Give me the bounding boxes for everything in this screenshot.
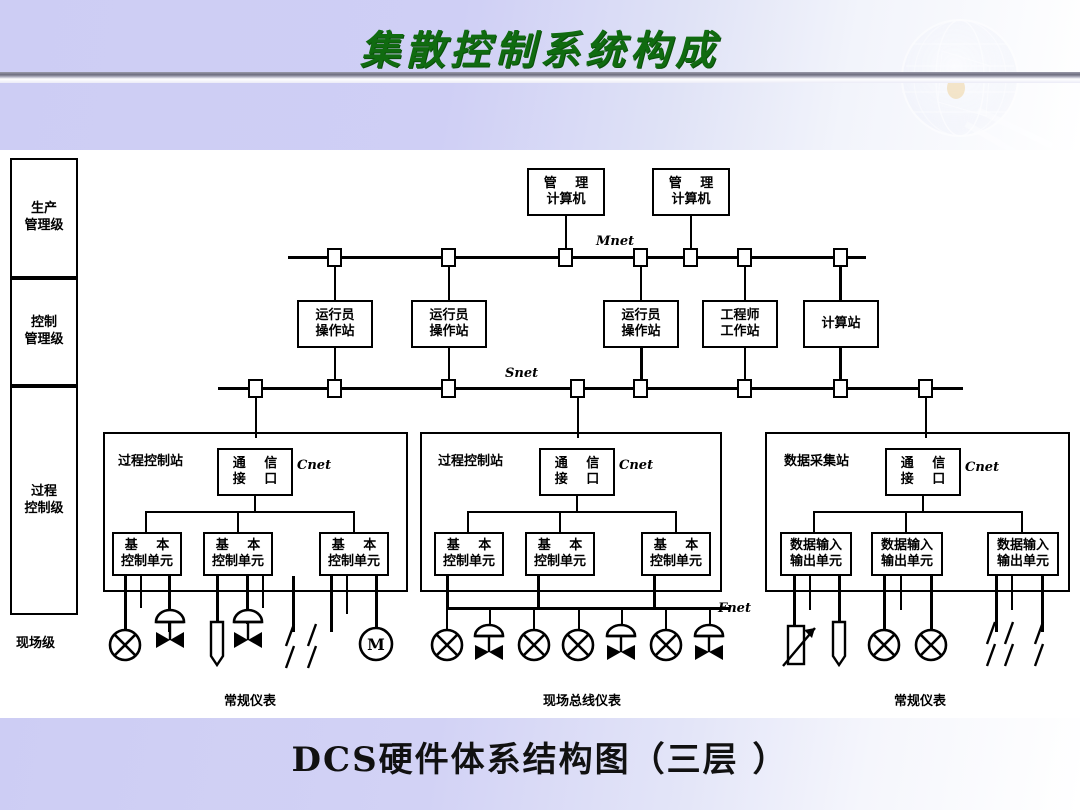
box-line1: 运行员 [429, 308, 468, 324]
box-line1: 数据输入 [997, 538, 1049, 554]
variable-sensor-icon [782, 620, 822, 672]
box-line2: 接 口 [894, 472, 953, 488]
cnet-branch-2a [467, 511, 469, 533]
thermowell-icon [830, 620, 848, 668]
fnet-drop-3 [533, 607, 535, 629]
box-line1: 计算站 [821, 316, 860, 332]
box-line1: 通 信 [894, 456, 953, 472]
level-box-control: 控制 管理级 [10, 278, 78, 386]
transmitter-icon [561, 628, 595, 662]
link-mnet-to-operator2 [448, 267, 450, 300]
control-valve-icon [469, 622, 509, 672]
field-drop-1-10 [375, 576, 378, 632]
communication-interface-1: 通 信 接 口 [217, 448, 293, 496]
basic-control-unit-1a: 基 本 控制单元 [112, 532, 182, 576]
station-name-2: 过程控制站 [438, 450, 503, 469]
box-line2: 控制单元 [121, 554, 173, 570]
snet-node-6 [737, 379, 752, 398]
engineer-workstation: 工程师 工作站 [702, 300, 778, 348]
slide: 集散控制系统构成 DCS硬件体系结构图（三层 ） 生产 管理级 控制 管理级 过… [0, 0, 1080, 810]
station-name-1: 过程控制站 [118, 450, 183, 469]
mnet-node-3 [558, 248, 573, 267]
snet-node-1 [248, 379, 263, 398]
box-line2: 控制单元 [212, 554, 264, 570]
compute-station: 计算站 [803, 300, 879, 348]
basic-control-unit-2a: 基 本 控制单元 [434, 532, 504, 576]
box-line2: 计算机 [546, 192, 585, 208]
snet-node-7 [833, 379, 848, 398]
cnet-branch-1b [237, 511, 239, 533]
box-line1: 基 本 [440, 538, 499, 554]
box-line2: 计算机 [671, 192, 710, 208]
box-line2: 输出单元 [881, 554, 933, 570]
basic-control-unit-2c: 基 本 控制单元 [641, 532, 711, 576]
cnet-bus-1 [145, 511, 355, 513]
box-line2: 操作站 [429, 324, 468, 340]
basic-control-unit-1c: 基 本 控制单元 [319, 532, 389, 576]
box-line1: 基 本 [531, 538, 590, 554]
field-drop-3-2 [809, 576, 811, 610]
field-drop-1-9 [346, 576, 348, 614]
communication-interface-2: 通 信 接 口 [539, 448, 615, 496]
level-label-field: 现场级 [16, 632, 55, 651]
snet-node-2 [327, 379, 342, 398]
level-label-line2: 控制级 [24, 501, 63, 516]
station-name-3: 数据采集站 [784, 450, 849, 469]
box-line2: 操作站 [621, 324, 660, 340]
mnet-node-6 [737, 248, 752, 267]
transmitter-icon [867, 628, 901, 662]
cnet-branch-3a [813, 511, 815, 533]
box-line1: 运行员 [315, 308, 354, 324]
basic-control-unit-1b: 基 本 控制单元 [203, 532, 273, 576]
data-io-unit-3b: 数据输入 输出单元 [871, 532, 943, 576]
box-line2: 接 口 [548, 472, 607, 488]
box-line1: 管 理 [537, 176, 596, 192]
snet-node-4 [570, 379, 585, 398]
link-mnet-to-engineer [744, 267, 746, 300]
fnet-drop-1 [446, 607, 448, 629]
control-valve-icon [228, 604, 268, 660]
mnet-node-4 [633, 248, 648, 267]
level-label-line2: 管理级 [24, 218, 63, 233]
cnet-label-1: Cnet [297, 458, 331, 473]
mnet-node-2 [441, 248, 456, 267]
transmitter-icon [108, 628, 142, 662]
field-drop-2-3 [653, 576, 656, 608]
transmitter-icon [649, 628, 683, 662]
box-line2: 控制单元 [443, 554, 495, 570]
box-line1: 通 信 [548, 456, 607, 472]
cnet-branch-3c [1021, 511, 1023, 533]
management-computer-2: 管 理 计算机 [652, 168, 730, 216]
cnet-stem-1 [254, 496, 256, 512]
field-drop-3-5 [900, 576, 902, 610]
mnet-node-5 [683, 248, 698, 267]
control-valve-icon [689, 622, 729, 672]
level-box-process: 过程 控制级 [10, 386, 78, 615]
snet-node-5 [633, 379, 648, 398]
motor-icon: M [358, 626, 394, 662]
fnet-label: Fnet [718, 601, 751, 616]
link-mnet-to-operator1 [334, 267, 336, 300]
cnet-stem-3 [922, 496, 924, 512]
basic-control-unit-2b: 基 本 控制单元 [525, 532, 595, 576]
page-title: 集散控制系统构成 [0, 18, 1080, 76]
field-drop-2-2 [537, 576, 540, 608]
box-line1: 运行员 [621, 308, 660, 324]
cnet-label-3: Cnet [965, 460, 999, 475]
transmitter-icon [517, 628, 551, 662]
operator-station-3: 运行员 操作站 [603, 300, 679, 348]
snet-node-8 [918, 379, 933, 398]
mnet-bus [288, 256, 866, 259]
box-line1: 通 信 [226, 456, 285, 472]
box-line1: 基 本 [647, 538, 706, 554]
box-line2: 接 口 [226, 472, 285, 488]
cnet-branch-1a [145, 511, 147, 533]
cnet-branch-2b [559, 511, 561, 533]
field-group-label-1: 常规仪表 [185, 690, 315, 709]
snet-label: Snet [505, 366, 538, 381]
box-line1: 工程师 [720, 308, 759, 324]
box-line1: 基 本 [325, 538, 384, 554]
field-drop-3-4 [883, 576, 886, 632]
mnet-node-7 [833, 248, 848, 267]
cnet-label-2: Cnet [619, 458, 653, 473]
link-mnet-to-operator3 [640, 267, 642, 300]
box-line2: 输出单元 [997, 554, 1049, 570]
communication-interface-3: 通 信 接 口 [885, 448, 961, 496]
box-line2: 操作站 [315, 324, 354, 340]
field-drop-2-1 [446, 576, 449, 608]
data-io-unit-3c: 数据输入 输出单元 [987, 532, 1059, 576]
box-line1: 数据输入 [881, 538, 933, 554]
box-line2: 输出单元 [790, 554, 842, 570]
cnet-branch-2c [675, 511, 677, 533]
field-group-label-3: 常规仪表 [855, 690, 985, 709]
field-drop-3-8 [1011, 576, 1013, 610]
svg-text:M: M [367, 635, 385, 654]
operator-station-2: 运行员 操作站 [411, 300, 487, 348]
box-line2: 控制单元 [534, 554, 586, 570]
field-group-label-2: 现场总线仪表 [512, 690, 652, 709]
box-line1: 数据输入 [790, 538, 842, 554]
control-valve-icon [601, 622, 641, 672]
header-divider-highlight [0, 79, 1080, 83]
fnet-drop-6 [665, 607, 667, 629]
box-line1: 管 理 [662, 176, 721, 192]
field-drop-3-6 [930, 576, 933, 632]
control-valve-icon [150, 604, 190, 660]
data-io-unit-3a: 数据输入 输出单元 [780, 532, 852, 576]
mnet-node-1 [327, 248, 342, 267]
link-mnet-to-compute [839, 267, 842, 300]
figure-caption: DCS硬件体系结构图（三层 ） [0, 732, 1080, 781]
transmitter-icon [430, 628, 464, 662]
level-box-production: 生产 管理级 [10, 158, 78, 278]
transmitter-icon [914, 628, 948, 662]
cnet-bus-2 [467, 511, 677, 513]
management-computer-1: 管 理 计算机 [527, 168, 605, 216]
field-drop-1-1 [124, 576, 127, 632]
level-label-line2: 管理级 [24, 332, 63, 347]
field-drop-1-2 [140, 576, 142, 608]
cnet-stem-2 [576, 496, 578, 512]
cnet-branch-1c [353, 511, 355, 533]
level-label-line1: 控制 [31, 315, 57, 330]
box-line2: 控制单元 [328, 554, 380, 570]
cnet-bus-3 [813, 511, 1023, 513]
signal-line-icon [985, 620, 1055, 670]
box-line1: 基 本 [209, 538, 268, 554]
fnet-drop-4 [578, 607, 580, 629]
mnet-label: Mnet [596, 234, 634, 249]
thermowell-icon [208, 620, 226, 668]
level-label-line1: 生产 [31, 201, 57, 216]
snet-node-3 [441, 379, 456, 398]
box-line2: 控制单元 [650, 554, 702, 570]
level-label-line1: 过程 [31, 484, 57, 499]
box-line1: 基 本 [118, 538, 177, 554]
operator-station-1: 运行员 操作站 [297, 300, 373, 348]
signal-line-icon [284, 622, 338, 670]
cnet-branch-3b [905, 511, 907, 533]
box-line2: 工作站 [720, 324, 759, 340]
